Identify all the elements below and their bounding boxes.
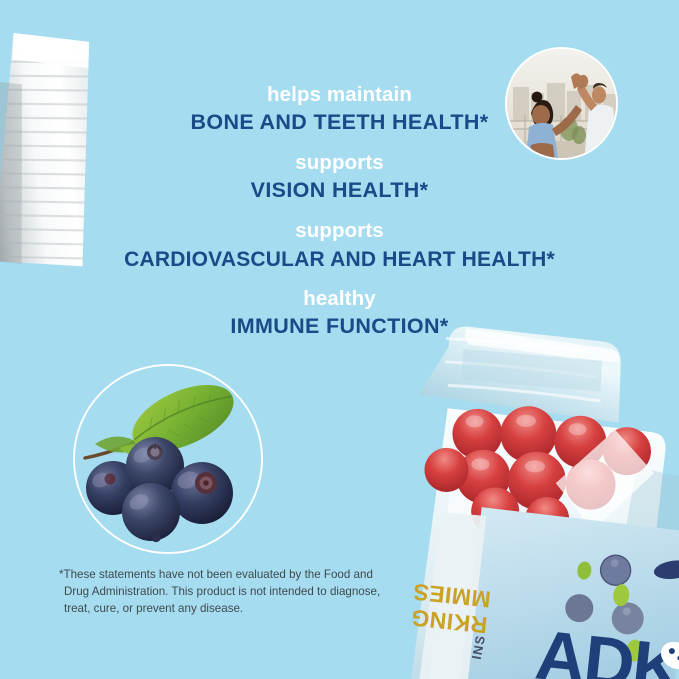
blueberry-photo-circle xyxy=(73,364,263,554)
benefit-prefix: supports xyxy=(0,218,679,244)
benefit-item: helps maintain BONE AND TEETH HEALTH* xyxy=(0,82,679,137)
benefit-item: healthy IMMUNE FUNCTION* xyxy=(0,286,679,341)
benefit-prefix: helps maintain xyxy=(0,82,679,108)
vitamin-bottle-image: ADK INS RKING MMIES xyxy=(330,320,679,679)
benefit-prefix: healthy xyxy=(0,286,679,312)
benefit-item: supports VISION HEALTH* xyxy=(0,150,679,205)
benefits-list: helps maintain BONE AND TEETH HEALTH* su… xyxy=(0,82,679,341)
benefit-heading: VISION HEALTH* xyxy=(0,177,679,205)
benefit-heading: IMMUNE FUNCTION* xyxy=(0,313,679,341)
product-benefits-graphic: helps maintain BONE AND TEETH HEALTH* su… xyxy=(0,0,679,679)
fda-disclaimer: *These statements have not been evaluate… xyxy=(64,566,394,617)
benefit-item: supports CARDIOVASCULAR AND HEART HEALTH… xyxy=(0,218,679,273)
benefit-heading: CARDIOVASCULAR AND HEART HEALTH* xyxy=(0,246,679,273)
benefit-heading: BONE AND TEETH HEALTH* xyxy=(0,109,679,137)
benefit-prefix: supports xyxy=(0,150,679,176)
